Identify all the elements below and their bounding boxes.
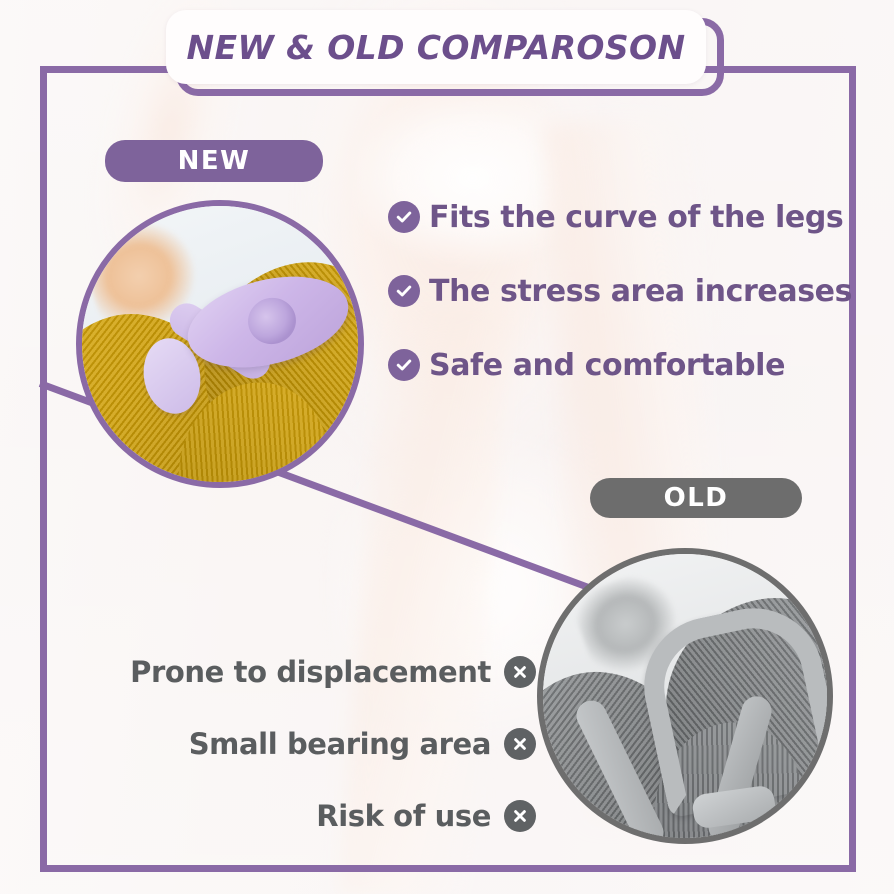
badge-old-label: OLD — [664, 483, 729, 513]
badge-old: OLD — [590, 478, 802, 518]
list-item: Fits the curve of the legs — [388, 180, 858, 254]
list-item: Small bearing area — [66, 708, 536, 780]
x-circle-icon — [504, 728, 536, 760]
comparison-infographic: NEW & OLD COMPAROSON NEW Fits the curve … — [0, 0, 894, 894]
old-product-photo — [537, 548, 833, 844]
list-item-label: The stress area increases — [429, 274, 852, 309]
page-title: NEW & OLD COMPAROSON — [187, 28, 686, 67]
x-circle-icon — [504, 656, 536, 688]
new-product-photo — [76, 200, 364, 488]
new-benefits-list: Fits the curve of the legs The stress ar… — [388, 180, 858, 402]
list-item-label: Risk of use — [316, 799, 491, 833]
badge-new-label: NEW — [178, 146, 251, 176]
check-circle-icon — [388, 275, 420, 307]
x-circle-icon — [504, 800, 536, 832]
list-item-label: Safe and comfortable — [429, 348, 785, 383]
list-item-label: Prone to displacement — [130, 655, 491, 689]
list-item: Prone to displacement — [66, 636, 536, 708]
list-item-label: Fits the curve of the legs — [429, 200, 843, 235]
list-item: Safe and comfortable — [388, 328, 858, 402]
title-banner: NEW & OLD COMPAROSON — [166, 10, 706, 84]
list-item: Risk of use — [66, 780, 536, 852]
badge-new: NEW — [105, 140, 323, 182]
list-item: The stress area increases — [388, 254, 858, 328]
check-circle-icon — [388, 349, 420, 381]
list-item-label: Small bearing area — [189, 727, 491, 761]
check-circle-icon — [388, 201, 420, 233]
old-drawbacks-list: Prone to displacement Small bearing area… — [66, 636, 536, 852]
